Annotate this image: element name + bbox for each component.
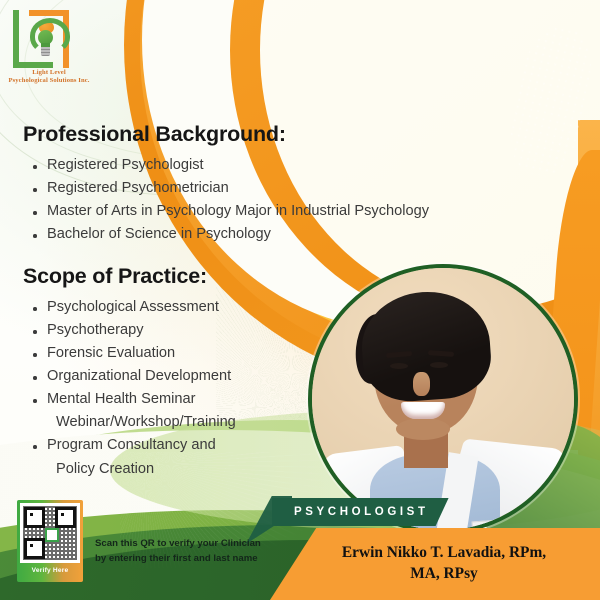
- nameplate: Erwin Nikko T. Lavadia, RPm, MA, RPsy: [270, 528, 600, 600]
- section-heading-professional-background: Professional Background:: [23, 122, 500, 147]
- avatar: [308, 264, 578, 534]
- list-item: Registered Psychometrician: [20, 177, 500, 200]
- clinician-name-line2: MA, RPsy: [410, 565, 478, 582]
- list-item: Bachelor of Science in Psychology: [20, 223, 500, 246]
- clinician-name: Erwin Nikko T. Lavadia, RPm, MA, RPsy: [324, 543, 546, 585]
- lightbulb-brain-hand-icon: [30, 18, 60, 60]
- logo-text-line1: Light Level: [13, 69, 85, 77]
- profile-card: Light Level Psychological Solutions Inc.…: [0, 0, 600, 600]
- qr-instructions: Scan this QR to verify your Clinician by…: [95, 537, 275, 566]
- list-item-text: Mental Health Seminar: [47, 391, 195, 407]
- logo-text-line2: Psychological Solutions Inc.: [5, 77, 93, 85]
- list-item: Registered Psychologist: [20, 154, 500, 177]
- status-badge-label: PSYCHOLOGIST: [294, 506, 429, 518]
- clinician-name-line1: Erwin Nikko T. Lavadia, RPm,: [342, 544, 546, 561]
- qr-instructions-line2: by entering their first and last name: [95, 553, 258, 564]
- professional-background-list: Registered Psychologist Registered Psych…: [20, 154, 500, 246]
- logo-frame-icon: [13, 10, 75, 68]
- qr-instructions-line1: Scan this QR to verify your Clinician: [95, 538, 261, 549]
- brand-logo: Light Level Psychological Solutions Inc.: [13, 10, 85, 88]
- list-item: Master of Arts in Psychology Major in In…: [20, 200, 500, 223]
- qr-verify-card[interactable]: Verify Here: [17, 500, 83, 582]
- qr-code-icon[interactable]: [20, 503, 80, 563]
- list-item-text: Program Consultancy and: [47, 437, 216, 453]
- status-badge: PSYCHOLOGIST: [272, 498, 449, 526]
- qr-verify-label: Verify Here: [20, 563, 80, 579]
